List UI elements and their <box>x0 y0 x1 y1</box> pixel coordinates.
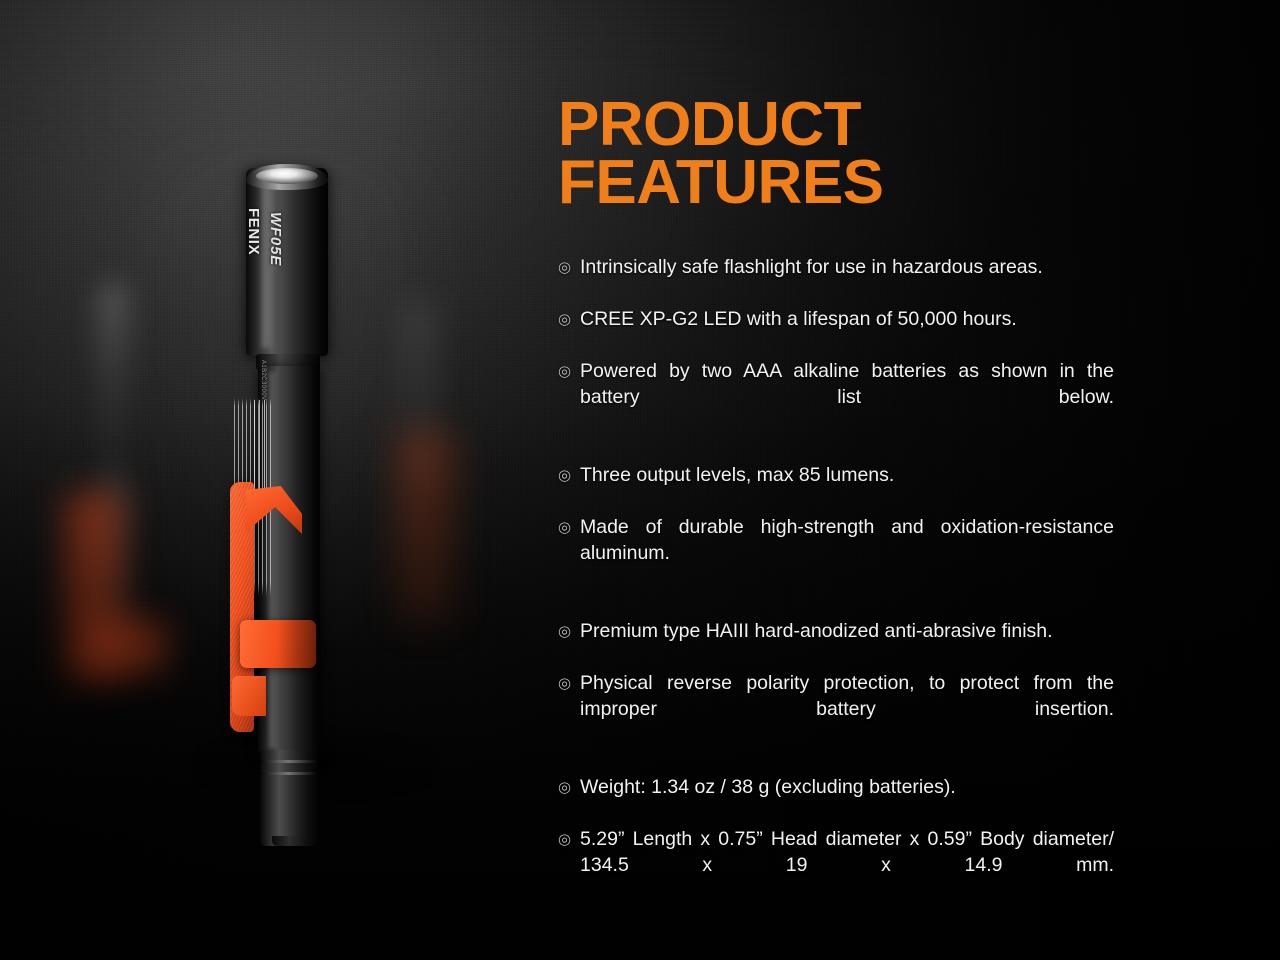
flashlight-product-image: FENIX WF05E A1B2C3000V <box>236 160 386 780</box>
flashlight-tailcap <box>260 750 318 846</box>
tail-switch-button <box>272 836 306 846</box>
feature-text: Powered by two AAA alkaline batteries as… <box>580 360 1114 434</box>
title-line-2: FEATURES <box>558 154 1114 212</box>
feature-item: ◎Powered by two AAA alkaline batteries a… <box>558 358 1114 436</box>
pocket-clip-band-shade <box>278 620 316 668</box>
product-features-slide: FENIX WF05E A1B2C3000V PRODUCT FEATURES … <box>0 0 1280 960</box>
feature-item: ◎Made of durable high-strength and oxida… <box>558 514 1114 592</box>
feature-item: ◎Physical reverse polarity protection, t… <box>558 670 1114 748</box>
feature-text: Three output levels, max 85 lumens. <box>580 464 894 486</box>
page-title: PRODUCT FEATURES <box>558 96 1114 212</box>
led-reflector <box>256 168 318 184</box>
feature-text: CREE XP-G2 LED with a lifespan of 50,000… <box>580 308 1017 330</box>
bullet-icon: ◎ <box>558 619 571 645</box>
content-column: PRODUCT FEATURES ◎Intrinsically safe fla… <box>558 96 1114 904</box>
feature-text: Physical reverse polarity protection, to… <box>580 672 1114 746</box>
feature-item: ◎Weight: 1.34 oz / 38 g (excluding batte… <box>558 774 1114 800</box>
feature-item: ◎Three output levels, max 85 lumens. <box>558 462 1114 488</box>
feature-item: ◎Premium type HAIII hard-anodized anti-a… <box>558 618 1114 644</box>
certification-microtext <box>254 400 266 496</box>
bullet-icon: ◎ <box>558 775 571 801</box>
bullet-icon: ◎ <box>558 463 571 489</box>
bullet-icon: ◎ <box>558 359 571 385</box>
bullet-icon: ◎ <box>558 515 571 541</box>
feature-text: Intrinsically safe flashlight for use in… <box>580 256 1043 278</box>
pocket-clip-foot <box>232 676 266 716</box>
bullet-icon: ◎ <box>558 827 571 853</box>
title-line-1: PRODUCT <box>558 96 1114 154</box>
tailcap-ring-1 <box>260 760 318 763</box>
model-name-text: WF05E <box>267 212 284 342</box>
bullet-icon: ◎ <box>558 255 571 281</box>
feature-text: Made of durable high-strength and oxidat… <box>580 516 1114 590</box>
tailcap-ring-2 <box>260 772 318 775</box>
feature-text: Premium type HAIII hard-anodized anti-ab… <box>580 620 1053 642</box>
feature-text: Weight: 1.34 oz / 38 g (excluding batter… <box>580 776 956 798</box>
bullet-icon: ◎ <box>558 671 571 697</box>
feature-item: ◎CREE XP-G2 LED with a lifespan of 50,00… <box>558 306 1114 332</box>
feature-list: ◎Intrinsically safe flashlight for use i… <box>558 254 1114 904</box>
brand-logo-text: FENIX <box>245 208 262 338</box>
bullet-icon: ◎ <box>558 307 571 333</box>
feature-item: ◎5.29” Length x 0.75” Head diameter x 0.… <box>558 826 1114 904</box>
feature-text: 5.29” Length x 0.75” Head diameter x 0.5… <box>580 828 1114 902</box>
feature-item: ◎Intrinsically safe flashlight for use i… <box>558 254 1114 280</box>
